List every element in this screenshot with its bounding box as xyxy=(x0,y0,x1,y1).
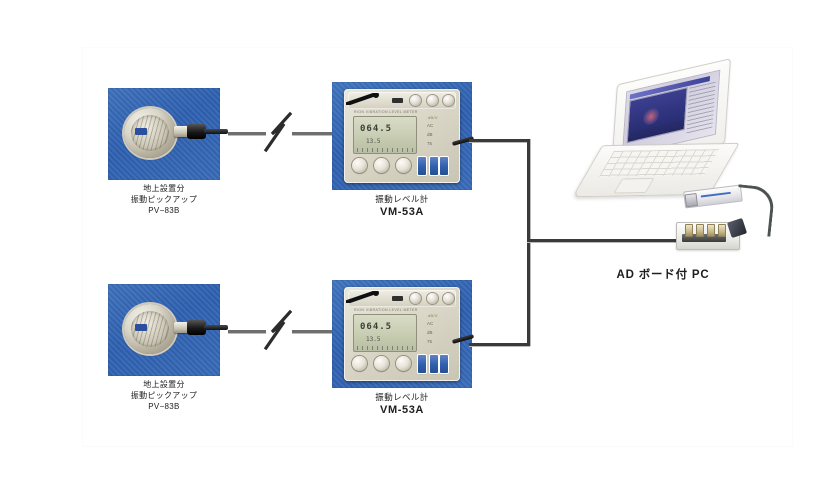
meter-caption-model-bottom: VM-53A xyxy=(328,403,476,418)
meter-caption-model-top: VM-53A xyxy=(328,205,476,220)
meter-controls-bottom xyxy=(350,354,454,376)
pickup-node-bottom: 地上設置分 振動ピックアップ PV−83B xyxy=(108,284,220,376)
meter-scale-title-top: dB/V xyxy=(428,115,438,120)
meter-top-knob-3-icon xyxy=(443,293,454,304)
meter-caption-bottom: 振動レベル計 VM-53A xyxy=(328,392,476,418)
pickup-caption-line-3: PV−83B xyxy=(102,402,226,413)
cable-pickup-to-break-top xyxy=(228,132,266,135)
pc-caption-text: AD ボード付 PC xyxy=(588,268,738,284)
diagram-canvas: 地上設置分 振動ピックアップ PV−83B xyxy=(0,0,840,500)
meter-button-3-top[interactable] xyxy=(396,158,411,173)
pc-caption: AD ボード付 PC xyxy=(588,268,738,284)
screen-side-waveform xyxy=(686,82,715,135)
meter-side-scale-bottom: dB/V AC dB 75 xyxy=(424,313,452,351)
laptop-trackpad[interactable] xyxy=(613,178,654,194)
meter-top-knob-1-icon xyxy=(410,293,421,304)
cable-break-to-meter-top xyxy=(292,132,336,135)
ad-card-icon xyxy=(683,185,743,209)
cable-stub-icon xyxy=(204,129,228,134)
pickup-node-top: 地上設置分 振動ピックアップ PV−83B xyxy=(108,88,220,180)
meter-lcd-value-bottom: 064.5 xyxy=(360,322,392,332)
meter-caption-top: 振動レベル計 VM-53A xyxy=(328,194,476,220)
meter-top-slot-icon xyxy=(392,296,403,301)
meter-lcd-ticks-bottom xyxy=(357,346,413,350)
meter-button-2-bottom[interactable] xyxy=(374,356,389,371)
pickup-caption-line-1: 地上設置分 xyxy=(102,184,226,195)
meter-lcd-top: 064.5 13.5 xyxy=(353,116,417,154)
accelerometer-puck-icon xyxy=(124,304,176,354)
meter-scale-row-2-bottom: dB xyxy=(427,330,433,335)
meter-scale-row-1-top: AC xyxy=(427,123,433,128)
cable-stub-icon xyxy=(204,325,228,330)
pickup-caption-bottom: 地上設置分 振動ピックアップ PV−83B xyxy=(102,380,226,412)
pickup-caption-line-1: 地上設置分 xyxy=(102,380,226,391)
probe-lever-icon-top xyxy=(346,93,380,105)
meter-top-knob-2-icon xyxy=(427,293,438,304)
meter-scale-row-1-bottom: AC xyxy=(427,321,433,326)
meter-switch-1-bottom[interactable] xyxy=(418,355,426,373)
meter-brand-text-top: RION VIBRATION LEVEL METER xyxy=(354,110,418,114)
meter-caption-jp-bottom: 振動レベル計 xyxy=(328,392,476,403)
accelerometer-puck-icon xyxy=(124,108,176,158)
meter-top-slot-icon xyxy=(392,98,403,103)
ad-board-assembly xyxy=(676,188,768,250)
ad-pin-3-icon xyxy=(707,224,715,237)
laptop-pc xyxy=(588,72,738,202)
ad-pin-4-icon xyxy=(718,224,726,237)
pickup-caption-line-2: 振動ピックアップ xyxy=(102,391,226,402)
puck-label-icon xyxy=(135,324,147,331)
pickup-caption-line-2: 振動ピックアップ xyxy=(102,195,226,206)
wire-vertical-trunk xyxy=(527,139,530,346)
pickup-photo-top xyxy=(108,88,220,180)
puck-label-icon xyxy=(135,128,147,135)
meter-top-knob-2-icon xyxy=(427,95,438,106)
meter-body-bottom: RION VIBRATION LEVEL METER 064.5 13.5 dB… xyxy=(344,287,460,381)
meter-button-2-top[interactable] xyxy=(374,158,389,173)
meter-scale-row-3-top: 75 xyxy=(427,141,432,146)
meter-scale-title-bottom: dB/V xyxy=(428,313,438,318)
ad-card-plug-icon xyxy=(685,193,698,207)
meter-body-top: RION VIBRATION LEVEL METER 064.5 13.5 dB… xyxy=(344,89,460,183)
meter-scale-row-3-bottom: 75 xyxy=(427,339,432,344)
meter-scale-row-2-top: dB xyxy=(427,132,433,137)
meter-brand-text-bottom: RION VIBRATION LEVEL METER xyxy=(354,308,418,312)
meter-top-knob-1-icon xyxy=(410,95,421,106)
cable-break-to-meter-bottom xyxy=(292,330,336,333)
pickup-caption-line-3: PV−83B xyxy=(102,206,226,217)
meter-lcd-sub-top: 13.5 xyxy=(366,138,380,145)
meter-switch-2-bottom[interactable] xyxy=(430,355,438,373)
meter-lcd-bottom: 064.5 13.5 xyxy=(353,314,417,352)
laptop-keyboard[interactable] xyxy=(599,149,719,177)
meter-button-1-top[interactable] xyxy=(352,158,367,173)
meter-lcd-sub-bottom: 13.5 xyxy=(366,336,380,343)
meter-button-1-bottom[interactable] xyxy=(352,356,367,371)
meter-button-3-bottom[interactable] xyxy=(396,356,411,371)
pickup-photo-bottom xyxy=(108,284,220,376)
pickup-caption-top: 地上設置分 振動ピックアップ PV−83B xyxy=(102,184,226,216)
cable-pickup-to-break-bottom xyxy=(228,330,266,333)
wire-top-meter-horizontal xyxy=(469,139,530,142)
probe-lever-icon-bottom xyxy=(346,291,380,303)
meter-lcd-value-top: 064.5 xyxy=(360,124,392,134)
ad-pin-2-icon xyxy=(696,224,704,237)
meter-lcd-ticks-top xyxy=(357,148,413,152)
meter-switch-2-top[interactable] xyxy=(430,157,438,175)
ad-pin-1-icon xyxy=(685,224,693,237)
meter-controls-top xyxy=(350,156,454,178)
meter-caption-jp-top: 振動レベル計 xyxy=(328,194,476,205)
meter-photo-bottom: RION VIBRATION LEVEL METER 064.5 13.5 dB… xyxy=(332,280,472,388)
meter-switch-1-top[interactable] xyxy=(418,157,426,175)
meter-node-bottom: RION VIBRATION LEVEL METER 064.5 13.5 dB… xyxy=(332,280,472,388)
meter-switch-3-bottom[interactable] xyxy=(440,355,448,373)
wire-bottom-meter-horizontal xyxy=(469,343,530,346)
meter-switch-3-top[interactable] xyxy=(440,157,448,175)
meter-node-top: RION VIBRATION LEVEL METER 064.5 13.5 dB… xyxy=(332,82,472,190)
meter-top-knob-3-icon xyxy=(443,95,454,106)
wire-trunk-to-pc xyxy=(527,239,680,242)
meter-side-scale-top: dB/V AC dB 75 xyxy=(424,115,452,153)
meter-photo-top: RION VIBRATION LEVEL METER 064.5 13.5 dB… xyxy=(332,82,472,190)
